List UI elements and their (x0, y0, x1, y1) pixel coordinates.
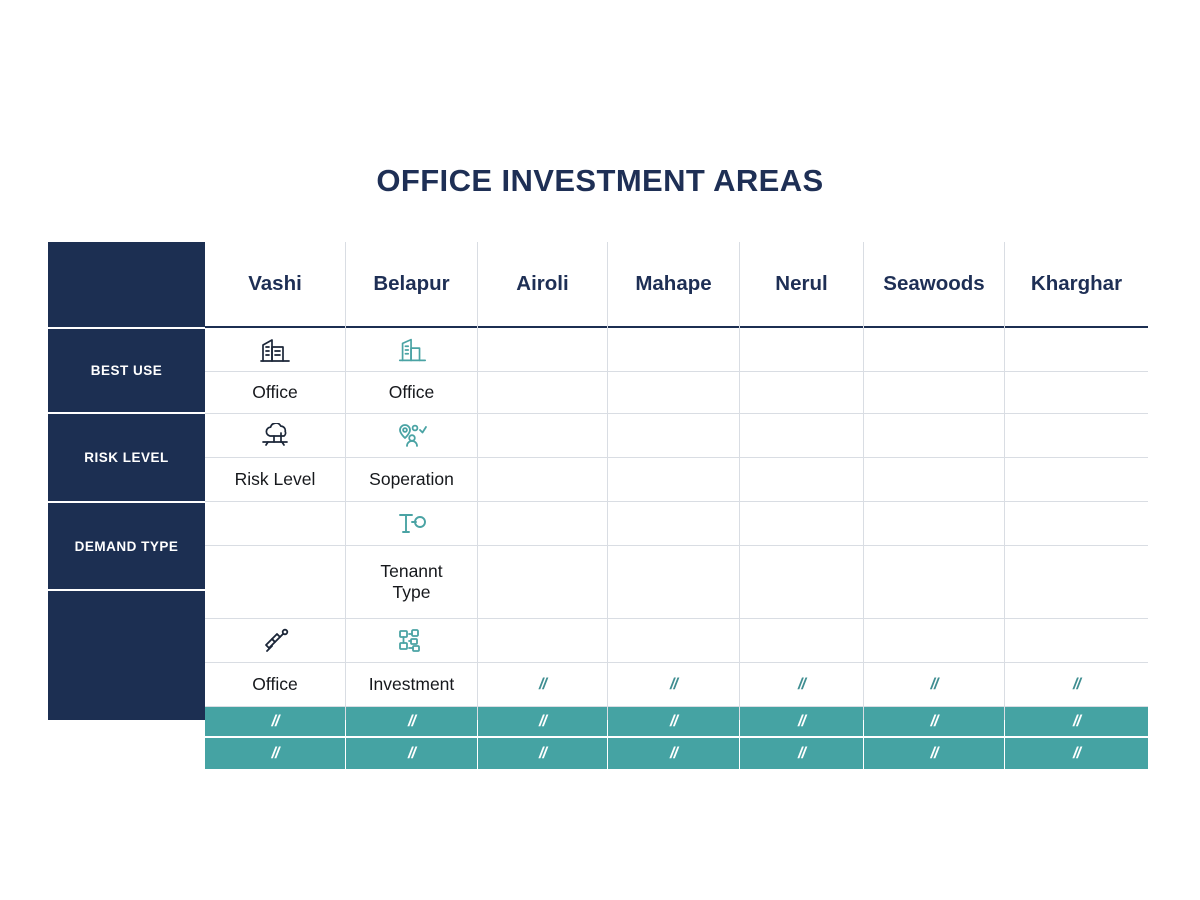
cell-nerul-slash: // (740, 663, 863, 707)
cell-nerul-teal-1: // (740, 707, 863, 738)
column-seawoods[interactable]: Seawoods // // // (864, 242, 1005, 720)
cell-nerul-empty-5 (740, 546, 863, 619)
cell-mahape-empty-2 (608, 414, 739, 458)
cell-vashi-empty-1 (205, 502, 345, 546)
column-kharghar[interactable]: Kharghar // // // (1005, 242, 1148, 720)
cell-text: Office (389, 382, 434, 403)
cell-kharghar-empty-4 (1005, 502, 1148, 546)
comparison-matrix: BEST USE RISK LEVEL DEMAND TYPE Vashi (48, 242, 1148, 720)
cell-mahape-slash: // (608, 663, 739, 707)
location-people-icon (395, 422, 429, 450)
column-header-kharghar: Kharghar (1005, 242, 1148, 328)
office-building-icon (258, 335, 292, 365)
cell-kharghar-teal-1: // (1005, 707, 1148, 738)
slash-mark: // (1073, 713, 1080, 731)
cell-airoli-empty-3 (478, 458, 607, 502)
cell-seawoods-teal-1: // (864, 707, 1004, 738)
column-header-vashi: Vashi (205, 242, 345, 328)
row-label-demand-type: DEMAND TYPE (48, 503, 205, 591)
cell-airoli-empty-4 (478, 502, 607, 546)
cell-vashi-teal-1: // (205, 707, 345, 738)
cell-text: Soperation (369, 469, 454, 490)
cell-vashi-label-office: Office (205, 372, 345, 414)
cell-vashi-empty-2 (205, 546, 345, 619)
row-label-0 (48, 242, 205, 329)
cell-mahape-empty-0 (608, 328, 739, 372)
cell-seawoods-empty-2 (864, 414, 1004, 458)
cell-mahape-empty-5 (608, 546, 739, 619)
slash-mark: // (670, 676, 677, 694)
cell-airoli-empty-6 (478, 619, 607, 663)
cell-vashi-teal-2: // (205, 738, 345, 769)
cell-kharghar-slash: // (1005, 663, 1148, 707)
cell-mahape-empty-4 (608, 502, 739, 546)
cell-text: Risk Level (235, 469, 316, 490)
cell-belapur-teal-2: // (346, 738, 477, 769)
column-mahape[interactable]: Mahape // // // (608, 242, 740, 720)
cell-mahape-empty-1 (608, 372, 739, 414)
cell-airoli-teal-1: // (478, 707, 607, 738)
cell-vashi-label-risk: Risk Level (205, 458, 345, 502)
cell-text: Office (252, 674, 297, 695)
cell-seawoods-empty-5 (864, 546, 1004, 619)
cell-nerul-empty-0 (740, 328, 863, 372)
cell-kharghar-empty-3 (1005, 458, 1148, 502)
slash-mark: // (931, 713, 938, 731)
cell-airoli-teal-2: // (478, 738, 607, 769)
cell-seawoods-empty-3 (864, 458, 1004, 502)
column-airoli[interactable]: Airoli // // // (478, 242, 608, 720)
slash-mark: // (408, 745, 415, 763)
column-belapur[interactable]: Belapur Office (346, 242, 478, 720)
slash-mark: // (798, 745, 805, 763)
cell-seawoods-slash: // (864, 663, 1004, 707)
satellite-icon (259, 626, 291, 656)
cell-airoli-empty-2 (478, 414, 607, 458)
slash-mark: // (408, 713, 415, 731)
cell-mahape-teal-2: // (608, 738, 739, 769)
column-header-belapur: Belapur (346, 242, 477, 328)
cell-belapur-icon-investment (346, 619, 477, 663)
column-nerul[interactable]: Nerul // // // (740, 242, 864, 720)
column-vashi[interactable]: Vashi (205, 242, 346, 720)
cell-mahape-teal-1: // (608, 707, 739, 738)
cell-nerul-teal-2: // (740, 738, 863, 769)
matrix-body: Vashi (205, 242, 1148, 720)
cell-airoli-empty-1 (478, 372, 607, 414)
slash-mark: // (539, 713, 546, 731)
cell-nerul-empty-6 (740, 619, 863, 663)
network-nodes-icon (396, 627, 428, 655)
cell-seawoods-empty-6 (864, 619, 1004, 663)
row-label-5 (48, 675, 205, 720)
cell-nerul-empty-2 (740, 414, 863, 458)
row-label-best-use: BEST USE (48, 329, 205, 414)
column-header-airoli: Airoli (478, 242, 607, 328)
cell-airoli-empty-5 (478, 546, 607, 619)
cell-belapur-icon-soperation (346, 414, 477, 458)
cell-text: Investment (369, 674, 455, 695)
cell-kharghar-empty-1 (1005, 372, 1148, 414)
cell-belapur-icon-tenant (346, 502, 477, 546)
cell-kharghar-teal-2: // (1005, 738, 1148, 769)
cell-text: Office (252, 382, 297, 403)
page-title: OFFICE INVESTMENT AREAS (0, 163, 1200, 199)
row-label-4 (48, 591, 205, 675)
park-landscape-icon (257, 423, 293, 449)
office-building-icon (396, 335, 428, 365)
slash-mark: // (539, 676, 546, 694)
cell-text: Tenannt Type (380, 561, 442, 603)
slash-mark: // (931, 745, 938, 763)
cell-nerul-empty-3 (740, 458, 863, 502)
cell-kharghar-empty-5 (1005, 546, 1148, 619)
slash-mark: // (931, 676, 938, 694)
cell-vashi-icon-demand (205, 619, 345, 663)
cell-kharghar-empty-2 (1005, 414, 1148, 458)
cell-belapur-teal-1: // (346, 707, 477, 738)
row-label-column: BEST USE RISK LEVEL DEMAND TYPE (48, 242, 205, 720)
slash-mark: // (798, 713, 805, 731)
cell-seawoods-empty-4 (864, 502, 1004, 546)
cell-kharghar-empty-6 (1005, 619, 1148, 663)
cell-kharghar-empty-0 (1005, 328, 1148, 372)
slash-mark: // (272, 745, 279, 763)
slash-mark: // (798, 676, 805, 694)
cell-vashi-icon-office (205, 328, 345, 372)
gavel-icon (396, 510, 428, 538)
cell-seawoods-empty-1 (864, 372, 1004, 414)
column-header-mahape: Mahape (608, 242, 739, 328)
cell-mahape-empty-6 (608, 619, 739, 663)
cell-vashi-icon-risk (205, 414, 345, 458)
cell-nerul-empty-1 (740, 372, 863, 414)
column-header-nerul: Nerul (740, 242, 863, 328)
cell-belapur-label-tenant: Tenannt Type (346, 546, 477, 619)
slash-mark: // (1073, 745, 1080, 763)
cell-seawoods-teal-2: // (864, 738, 1004, 769)
cell-seawoods-empty-0 (864, 328, 1004, 372)
cell-belapur-icon-office (346, 328, 477, 372)
cell-nerul-empty-4 (740, 502, 863, 546)
slash-mark: // (539, 745, 546, 763)
cell-belapur-label-office: Office (346, 372, 477, 414)
cell-belapur-label-investment: Investment (346, 663, 477, 707)
slash-mark: // (670, 745, 677, 763)
cell-belapur-label-soperation: Soperation (346, 458, 477, 502)
slash-mark: // (1073, 676, 1080, 694)
row-label-risk-level: RISK LEVEL (48, 414, 205, 503)
cell-mahape-empty-3 (608, 458, 739, 502)
cell-vashi-label-demand: Office (205, 663, 345, 707)
slash-mark: // (272, 713, 279, 731)
cell-airoli-empty-0 (478, 328, 607, 372)
slash-mark: // (670, 713, 677, 731)
cell-airoli-slash: // (478, 663, 607, 707)
column-header-seawoods: Seawoods (864, 242, 1004, 328)
